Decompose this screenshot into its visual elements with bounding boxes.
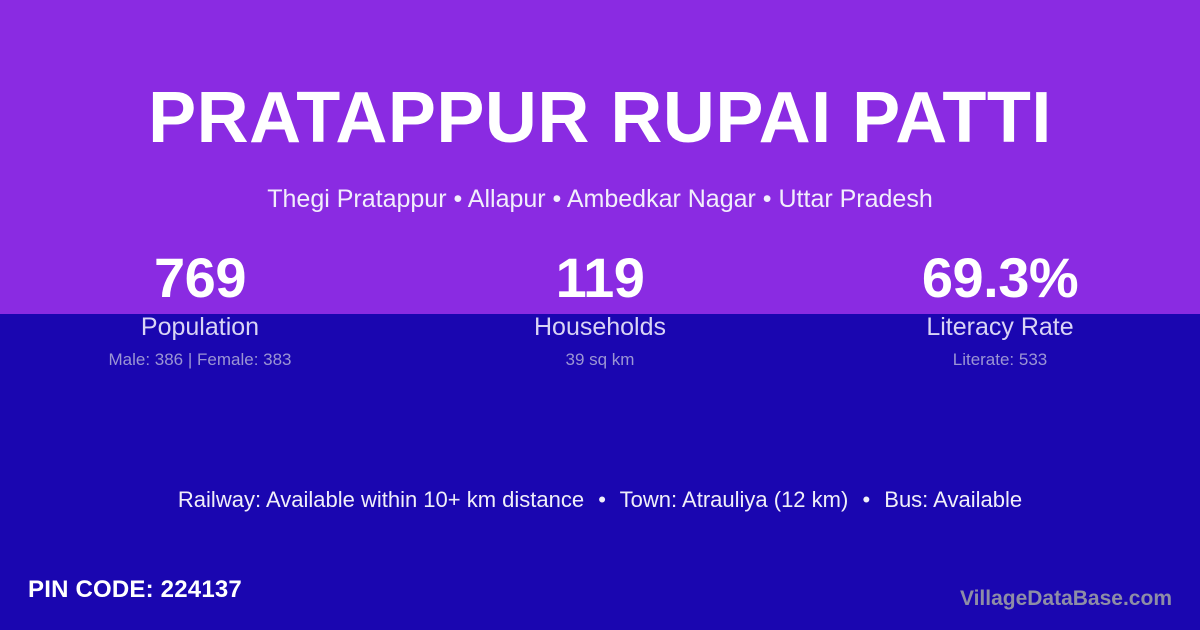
pin-code: PIN CODE: 224137	[28, 575, 242, 605]
stat-population-value: 769	[0, 246, 400, 310]
stat-literacy-rate-value: 69.3%	[800, 246, 1200, 310]
facilities-line: Railway: Available within 10+ km distanc…	[0, 485, 1200, 515]
stat-households: 119 Households 39 sq km	[400, 246, 800, 371]
stat-literacy-rate: 69.3% Literacy Rate Literate: 533	[800, 246, 1200, 371]
stat-population: 769 Population Male: 386 | Female: 383	[0, 246, 400, 371]
page-title: PRATAPPUR RUPAI PATTI	[0, 78, 1200, 158]
site-watermark: VillageDataBase.com	[960, 585, 1172, 612]
stats-row: 769 Population Male: 386 | Female: 383 1…	[0, 246, 1200, 371]
stat-literacy-rate-label: Literacy Rate	[800, 312, 1200, 343]
stat-households-sub: 39 sq km	[400, 349, 800, 371]
facility-railway: Railway: Available within 10+ km distanc…	[178, 487, 584, 512]
facility-bus: Bus: Available	[884, 487, 1022, 512]
village-info-card: PRATAPPUR RUPAI PATTI Thegi Pratappur • …	[0, 0, 1200, 630]
facility-town: Town: Atrauliya (12 km)	[620, 487, 849, 512]
facility-separator-icon-2: •	[854, 487, 878, 512]
breadcrumb: Thegi Pratappur • Allapur • Ambedkar Nag…	[0, 183, 1200, 215]
stat-households-label: Households	[400, 312, 800, 343]
stat-literacy-rate-sub: Literate: 533	[800, 349, 1200, 371]
stat-households-value: 119	[400, 246, 800, 310]
stat-population-label: Population	[0, 312, 400, 343]
facility-separator-icon: •	[590, 487, 614, 512]
stat-population-sub: Male: 386 | Female: 383	[0, 349, 400, 371]
